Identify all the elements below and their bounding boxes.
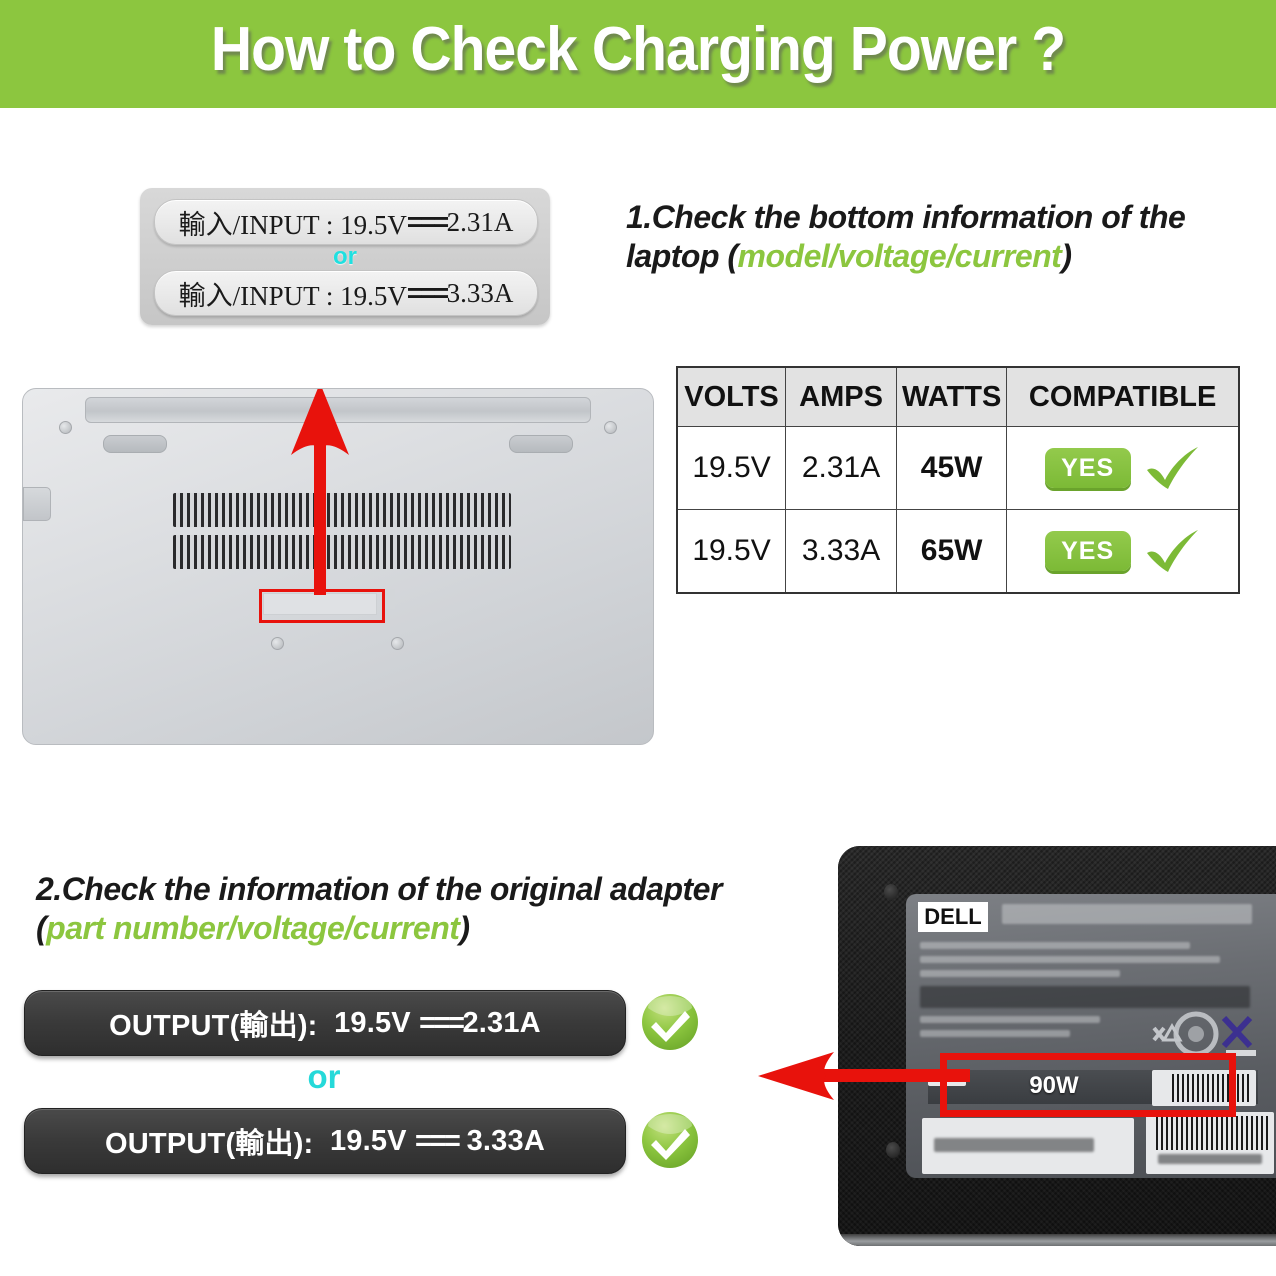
cell-compatible: YES (1007, 427, 1239, 510)
table-header-compatible: COMPATIBLE (1007, 367, 1239, 427)
input-or-label: or (140, 243, 550, 271)
table-row: 19.5V 2.31A 45W YES (677, 427, 1239, 510)
checkmark-icon (1143, 444, 1201, 492)
output-spec-2-prefix: OUTPUT(輸出): (105, 1120, 313, 1162)
output-spec-1-voltage: 19.5V (334, 1007, 411, 1040)
step-2-highlight: part number/voltage/current (46, 910, 459, 946)
step-1-text-part2: ) (1061, 238, 1071, 274)
cell-compatible: YES (1007, 510, 1239, 594)
input-spec-1-prefix: 輸入/INPUT : 19.5V (179, 203, 407, 242)
adapter-screw (884, 884, 898, 900)
cell-volts: 19.5V (677, 427, 786, 510)
adapter-spec-plate: DELL 90W (906, 894, 1276, 1178)
laptop-input-spec-group: 輸入/INPUT : 19.5V===2.31A or 輸入/INPUT : 1… (140, 188, 550, 325)
table-row: 19.5V 3.33A 65W YES (677, 510, 1239, 594)
output-spec-2-current: 3.33A (467, 1125, 545, 1158)
green-check-badge-icon (640, 1110, 700, 1170)
red-arrow-up-icon (23, 389, 653, 744)
dell-brand-label: DELL (918, 902, 988, 932)
page-title: How to Check Charging Power ? (51, 14, 1225, 85)
step-1-highlight: model/voltage/current (738, 238, 1062, 274)
input-spec-pill-1: 輸入/INPUT : 19.5V===2.31A (154, 199, 538, 245)
output-spec-1-prefix: OUTPUT(輸出): (109, 1002, 317, 1044)
certification-marks-icon (1142, 1006, 1262, 1060)
compatibility-table: VOLTS AMPS WATTS COMPATIBLE 19.5V 2.31A … (676, 366, 1240, 594)
output-spec-pill-1: OUTPUT(輸出): 19.5V ===2.31A (24, 990, 626, 1056)
step-2-instruction: 2.Check the information of the original … (36, 870, 756, 948)
red-arrow-left-icon (750, 1040, 970, 1110)
cell-amps: 2.31A (786, 427, 897, 510)
dc-symbol-icon: === (407, 278, 447, 309)
step-1-instruction: 1.Check the bottom information of the la… (626, 198, 1266, 276)
adapter-bottom-edge (838, 1234, 1276, 1246)
checkmark-icon (1143, 527, 1201, 575)
cell-watts: 45W (897, 427, 1007, 510)
adapter-screw (886, 1142, 900, 1158)
table-header-watts: WATTS (897, 367, 1007, 427)
dc-symbol-icon: === (419, 1007, 462, 1040)
dc-symbol-icon: === (407, 207, 447, 238)
infographic-page: How to Check Charging Power ? 輸入/INPUT :… (0, 0, 1276, 1276)
adapter-spec-highlight-rect (940, 1053, 1236, 1117)
green-check-badge-icon (640, 992, 700, 1052)
step-2-text-part2: ) (459, 910, 469, 946)
cell-volts: 19.5V (677, 510, 786, 594)
cell-watts: 65W (897, 510, 1007, 594)
output-or-label: or (24, 1058, 624, 1096)
header-banner: How to Check Charging Power ? (0, 0, 1276, 108)
table-header-volts: VOLTS (677, 367, 786, 427)
table-header-amps: AMPS (786, 367, 897, 427)
input-spec-2-prefix: 輸入/INPUT : 19.5V (179, 274, 407, 313)
yes-badge: YES (1045, 531, 1131, 571)
cell-amps: 3.33A (786, 510, 897, 594)
laptop-bottom-photo (22, 388, 654, 745)
yes-badge: YES (1045, 448, 1131, 488)
output-spec-pill-2: OUTPUT(輸出): 19.5V === 3.33A (24, 1108, 626, 1174)
output-spec-2-voltage: 19.5V (330, 1125, 407, 1158)
output-spec-1-current: 2.31A (462, 1007, 540, 1040)
input-spec-1-value: 2.31A (447, 207, 514, 238)
input-spec-pill-2: 輸入/INPUT : 19.5V===3.33A (154, 270, 538, 316)
table-header-row: VOLTS AMPS WATTS COMPATIBLE (677, 367, 1239, 427)
input-spec-2-value: 3.33A (447, 278, 514, 309)
dc-symbol-icon: === (415, 1125, 458, 1158)
